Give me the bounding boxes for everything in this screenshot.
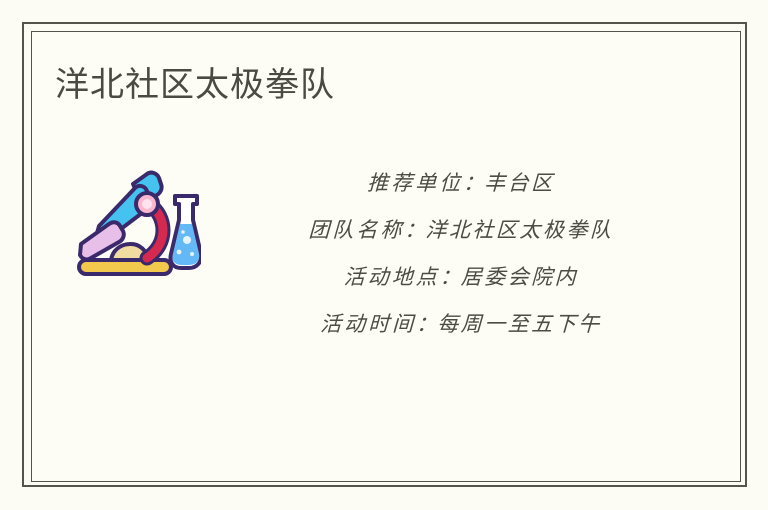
- details-list: 推荐单位：丰台区 团队名称：洋北社区太极拳队 活动地点：居委会院内 活动时间：每…: [211, 160, 711, 348]
- page-title: 洋北社区太极拳队: [55, 63, 335, 107]
- detail-label-recommend-unit: 推荐单位: [367, 171, 464, 195]
- detail-separator-recommend-unit: ：: [463, 171, 485, 195]
- detail-row-recommend-unit: 推荐单位：丰台区: [210, 160, 712, 207]
- detail-separator-team-name: ：: [404, 218, 426, 242]
- detail-label-activity-time: 活动时间: [320, 312, 417, 336]
- detail-value-activity-location: 居委会院内: [460, 265, 578, 289]
- content-row: 推荐单位：丰台区 团队名称：洋北社区太极拳队 活动地点：居委会院内 活动时间：每…: [31, 150, 741, 380]
- detail-value-activity-time: 每周一至五下午: [437, 312, 602, 336]
- detail-row-activity-location: 活动地点：居委会院内: [210, 254, 712, 301]
- detail-row-activity-time: 活动时间：每周一至五下午: [210, 301, 712, 348]
- detail-label-activity-location: 活动地点: [343, 265, 440, 289]
- detail-separator-activity-location: ：: [439, 265, 461, 289]
- detail-row-team-name: 团队名称：洋北社区太极拳队: [210, 207, 712, 254]
- info-card: 洋北社区太极拳队: [0, 0, 768, 510]
- detail-separator-activity-time: ：: [416, 312, 438, 336]
- detail-value-team-name: 洋北社区太极拳队: [425, 218, 614, 242]
- detail-label-team-name: 团队名称: [308, 218, 405, 242]
- microscope-and-flask-icon: [75, 168, 201, 282]
- detail-value-recommend-unit: 丰台区: [484, 171, 555, 195]
